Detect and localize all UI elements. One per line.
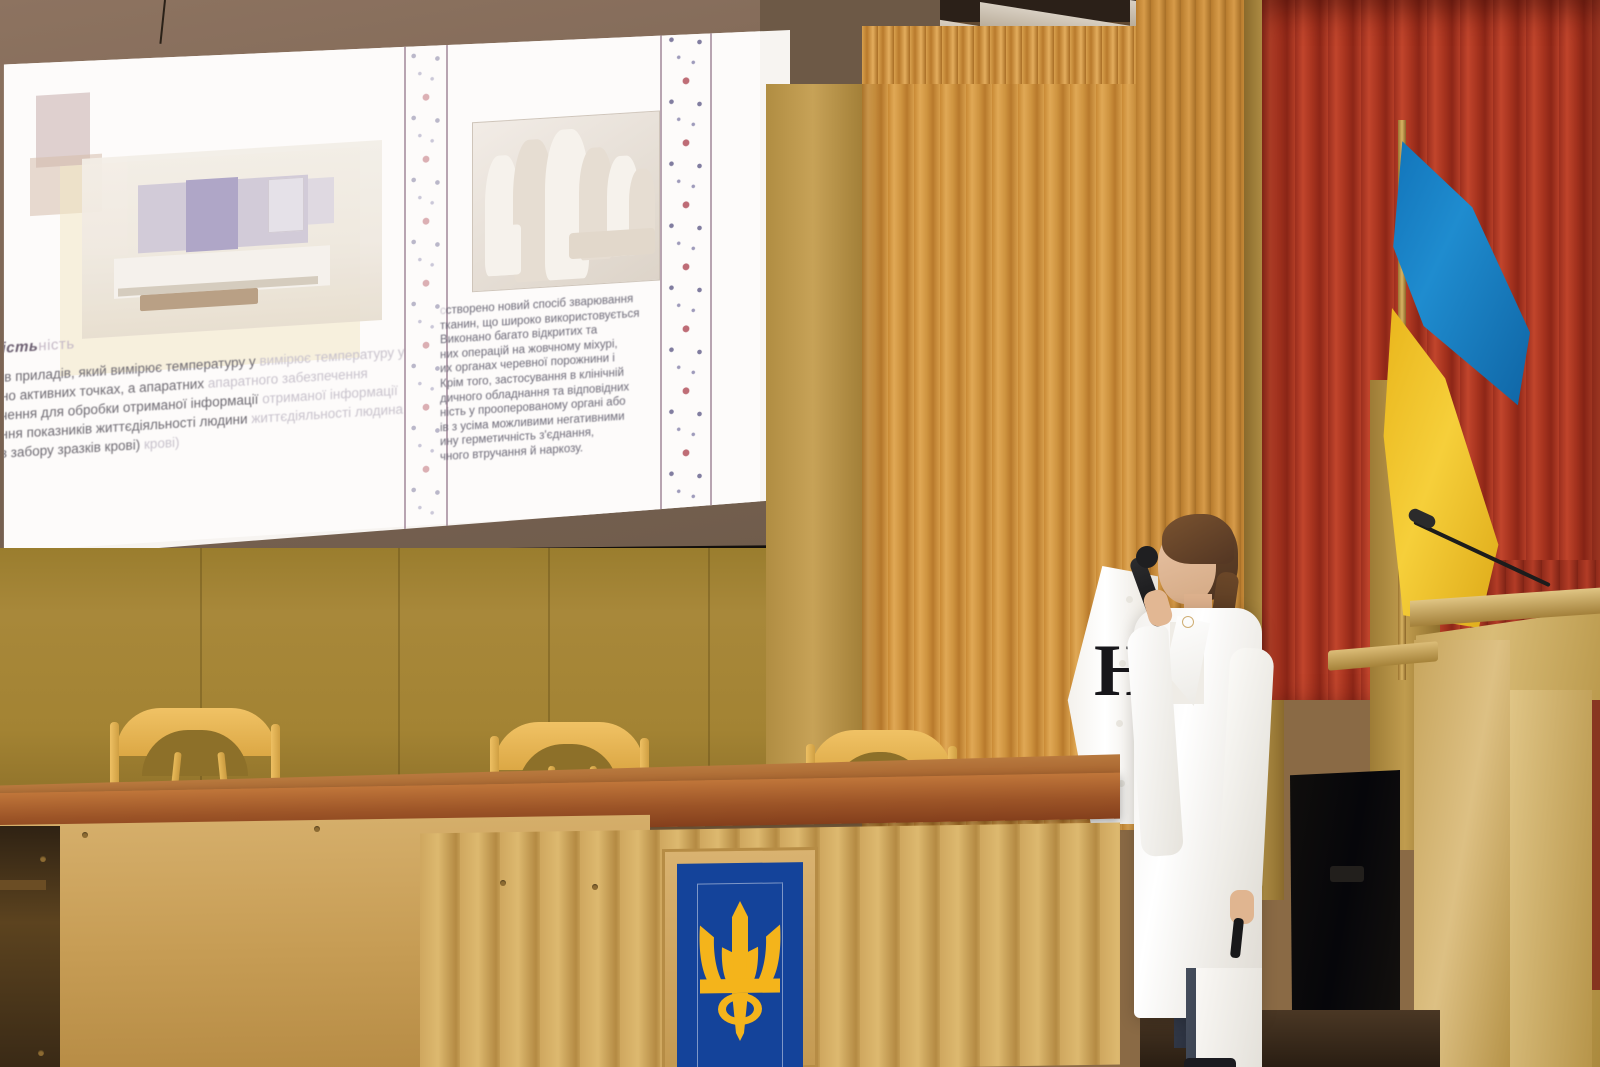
coat-of-arms-shield: [677, 862, 803, 1067]
tryzub-icon: [686, 894, 794, 1046]
presentation-slide: ністьність обів приладів, який вимірює т…: [0, 30, 760, 552]
embroidery-border-right: [660, 30, 712, 530]
gold-curtain-header: [862, 26, 1152, 84]
speaker-handle: [1330, 866, 1364, 882]
ukrainian-national-flag: [1378, 128, 1530, 618]
necklace: [1182, 616, 1194, 628]
shoe: [1184, 1058, 1236, 1067]
slide-image-operating-room: [472, 110, 660, 292]
desk-screw: [82, 832, 88, 838]
desk-screw: [500, 880, 506, 886]
desk-screw: [592, 884, 598, 890]
pa-speaker-cabinet: [1290, 770, 1400, 1035]
lectern-side-panel: [1414, 640, 1510, 1067]
slide-image-medical-equipment: [82, 140, 382, 339]
desk-shelf: [0, 880, 46, 890]
hair-front: [1162, 514, 1234, 564]
embroidery-border-left: [404, 30, 448, 547]
coat-of-arms-plaque: [662, 847, 818, 1067]
presenter: [1112, 498, 1302, 1067]
slide-right-body: сстворено новий спосіб зварювання тканин…: [440, 289, 680, 465]
lab-coat-hem: [1196, 968, 1262, 1067]
desk-screw: [314, 826, 320, 832]
auditorium-scene: ністьність обів приладів, який вимірює т…: [0, 0, 1600, 1067]
desk-screw: [40, 856, 46, 862]
desk-screw: [38, 1050, 44, 1056]
desk-left-recess: [0, 826, 60, 1067]
projection-screen: ністьність обів приладів, який вимірює т…: [0, 30, 790, 560]
wood-pilaster: [766, 84, 870, 814]
